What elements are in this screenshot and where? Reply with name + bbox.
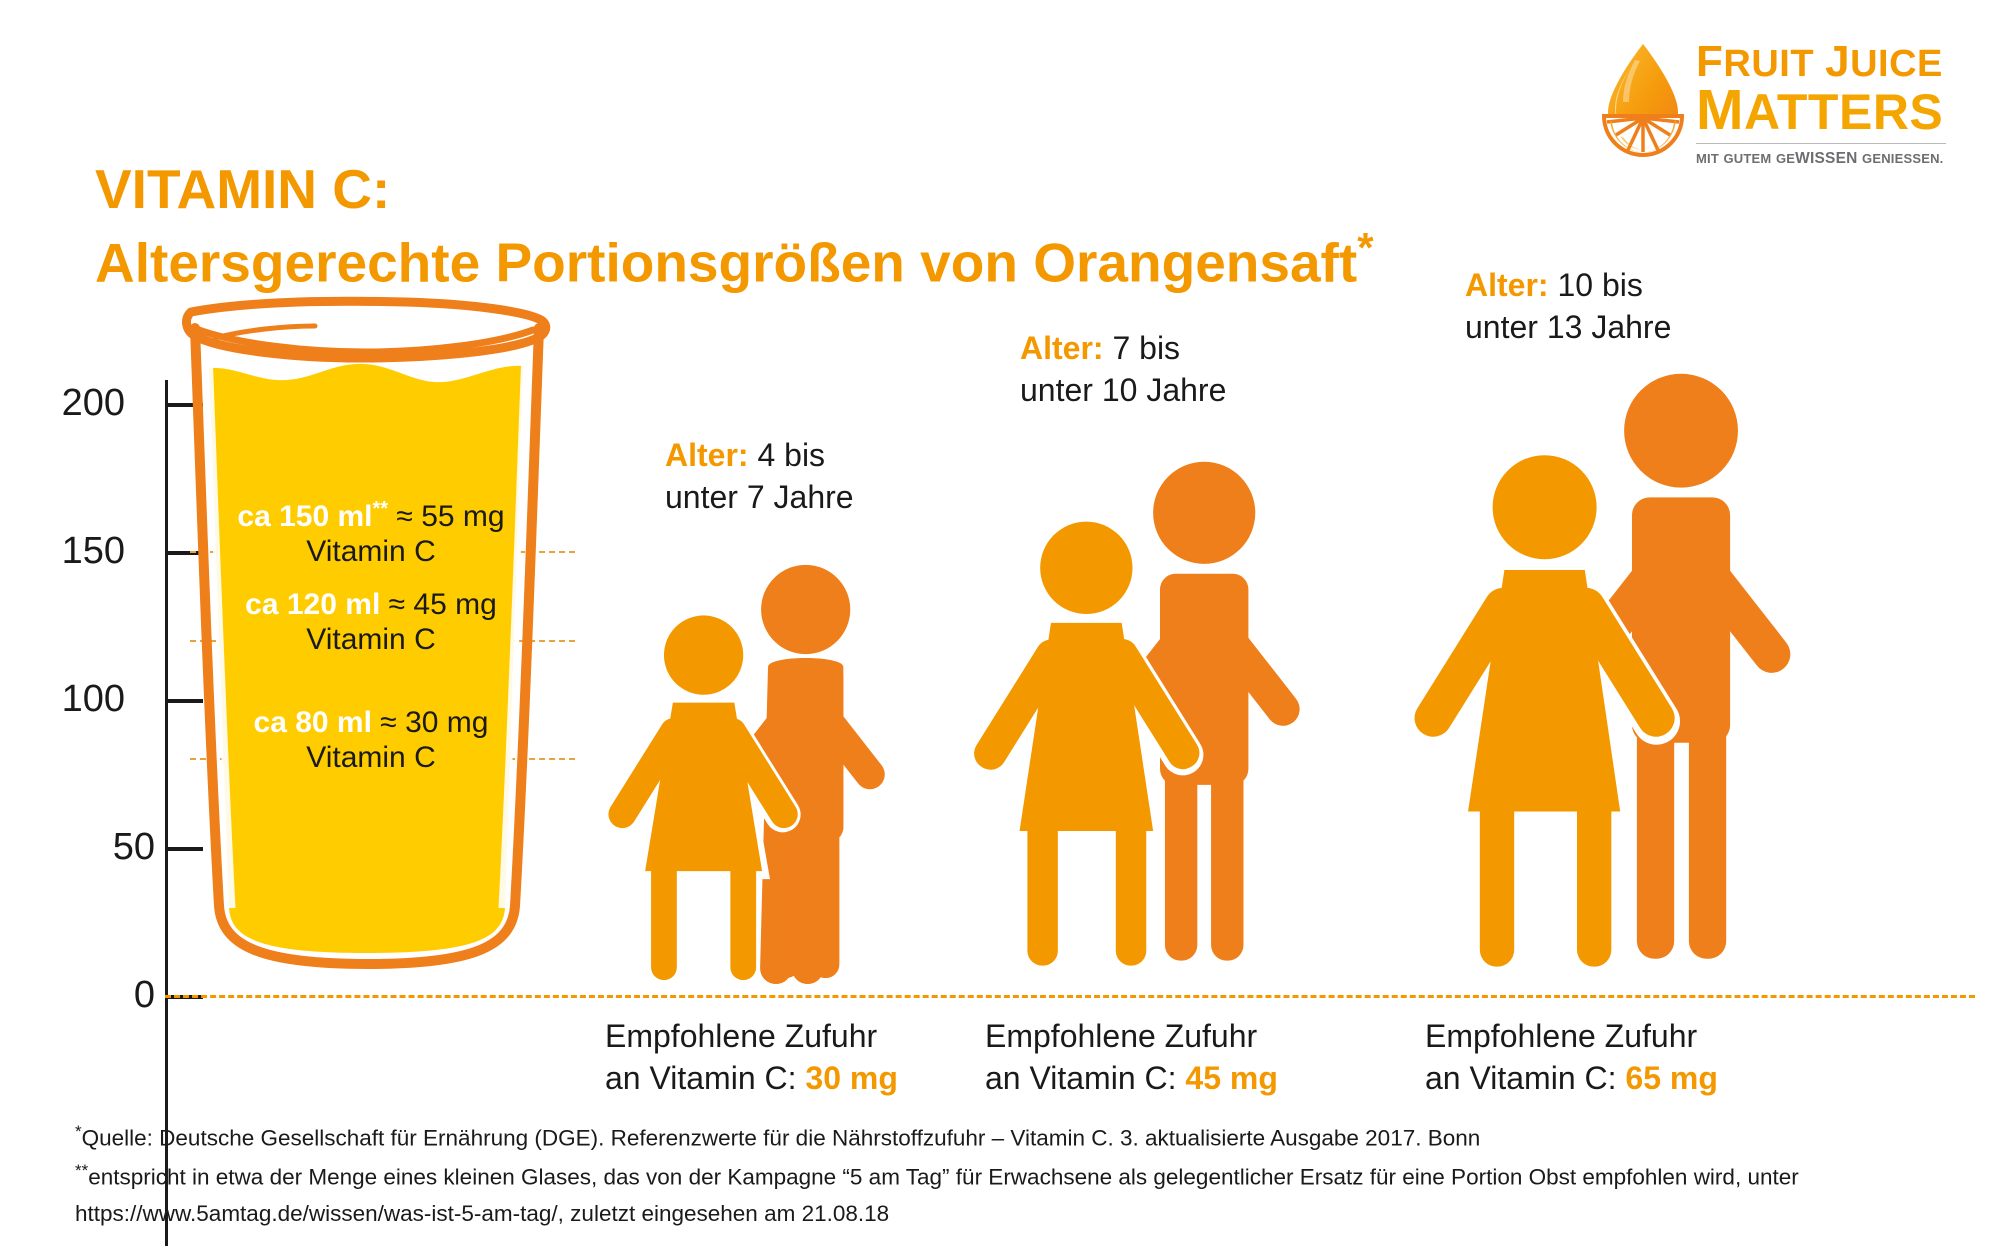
age-range2-10-13: unter 13 Jahre (1465, 309, 1671, 345)
footnote-1-marker: * (75, 1122, 82, 1141)
y-tick-label-100: 100 (15, 680, 125, 718)
logo-atters: ATTERS (1744, 84, 1943, 140)
caption-10-13-value: 65 mg (1625, 1060, 1717, 1096)
glass-label-120ml-nutrient: Vitamin C (306, 623, 436, 656)
age-label-10-13: Alter: 10 bis unter 13 Jahre (1465, 265, 1671, 348)
footnote-2-text: entspricht in etwa der Menge eines klein… (88, 1164, 1799, 1189)
glass-label-150ml-approx: ≈ 55 mg (396, 500, 504, 533)
age-prefix-4-7: Alter: (665, 437, 749, 473)
chart-area: 0 50 100 150 200 (0, 330, 2005, 1060)
caption-7-10-value: 45 mg (1185, 1060, 1277, 1096)
age-range2-7-10: unter 10 Jahre (1020, 372, 1226, 408)
caption-10-13-line2: an Vitamin C: (1425, 1060, 1625, 1096)
y-tick-label-0: 0 (45, 976, 155, 1014)
age-prefix-7-10: Alter: (1020, 330, 1104, 366)
caption-4-7-value: 30 mg (805, 1060, 897, 1096)
caption-4-7: Empfohlene Zufuhr an Vitamin C: 30 mg (605, 1015, 898, 1099)
footnote-3: https://www.5amtag.de/wissen/was-ist-5-a… (75, 1196, 1975, 1232)
caption-4-7-line1: Empfohlene Zufuhr (605, 1018, 877, 1054)
age-range-10-13: 10 bis (1549, 267, 1643, 303)
y-axis-line (165, 380, 168, 1246)
title-line-2-text: Altersgerechte Portionsgrößen von Orange… (95, 232, 1357, 294)
caption-7-10-line1: Empfohlene Zufuhr (985, 1018, 1257, 1054)
age-label-7-10: Alter: 7 bis unter 10 Jahre (1020, 328, 1226, 411)
footnote-3-text: https://www.5amtag.de/wissen/was-ist-5-a… (75, 1201, 889, 1226)
glass-label-150ml-marker: ** (373, 498, 389, 520)
footnote-1-text: Quelle: Deutsche Gesellschaft für Ernähr… (82, 1126, 1481, 1151)
glass-label-150ml: ca 150 ml** ≈ 55 mg Vitamin C (196, 498, 546, 569)
page-title: VITAMIN C: Altersgerechte Portionsgrößen… (95, 160, 1595, 293)
orange-juice-drop-icon (1600, 40, 1686, 162)
glass-label-150ml-volume: ca 150 ml (237, 500, 372, 533)
tagline-ge: GE (1776, 151, 1795, 166)
age-range-4-7: 4 bis (749, 437, 825, 473)
logo-line-matters: MATTERS (1696, 84, 1946, 138)
y-tick-label-50: 50 (45, 828, 155, 866)
age-prefix-10-13: Alter: (1465, 267, 1549, 303)
pictogram-pair-4-7 (620, 552, 920, 1003)
caption-7-10-line2: an Vitamin C: (985, 1060, 1185, 1096)
logo-divider (1696, 143, 1946, 144)
title-line-1: VITAMIN C: (95, 160, 1595, 219)
tagline-mit: MIT (1696, 151, 1719, 166)
glass-label-120ml-approx: ≈ 45 mg (389, 588, 497, 621)
logo-m: M (1696, 78, 1744, 142)
tagline-wissen: WISSEN (1795, 150, 1857, 167)
pictogram-pair-10-13 (1430, 360, 1830, 1003)
glass-label-150ml-nutrient: Vitamin C (306, 535, 436, 568)
age-range-7-10: 7 bis (1104, 330, 1180, 366)
caption-10-13-line1: Empfohlene Zufuhr (1425, 1018, 1697, 1054)
tagline-gutem: GUTEM (1724, 151, 1772, 166)
age-range2-4-7: unter 7 Jahre (665, 479, 854, 515)
pictogram-pair-7-10 (990, 448, 1330, 1003)
logo-j: J (1825, 37, 1850, 86)
glass-label-120ml-volume: ca 120 ml (245, 588, 380, 621)
glass-label-80ml-volume: ca 80 ml (254, 706, 372, 739)
fruit-juice-matters-logo: FRUIT JUICE MATTERS MIT GUTEM GEWISSEN G… (1600, 38, 1950, 183)
title-footnote-marker: * (1357, 224, 1373, 271)
infographic-canvas: FRUIT JUICE MATTERS MIT GUTEM GEWISSEN G… (0, 0, 2005, 1246)
title-line-2: Altersgerechte Portionsgrößen von Orange… (95, 225, 1595, 293)
glass-label-80ml: ca 80 ml ≈ 30 mg Vitamin C (196, 706, 546, 775)
caption-7-10: Empfohlene Zufuhr an Vitamin C: 45 mg (985, 1015, 1278, 1099)
glass-label-80ml-approx: ≈ 30 mg (380, 706, 488, 739)
age-label-4-7: Alter: 4 bis unter 7 Jahre (665, 435, 854, 518)
footnote-2-marker: ** (75, 1161, 88, 1180)
logo-wordmark: FRUIT JUICE MATTERS MIT GUTEM GEWISSEN G… (1696, 42, 1946, 168)
glass-label-120ml: ca 120 ml ≈ 45 mg Vitamin C (196, 588, 546, 657)
logo-uice: UICE (1850, 43, 1943, 85)
tagline-geniessen: GENIESSEN. (1862, 151, 1943, 166)
caption-10-13: Empfohlene Zufuhr an Vitamin C: 65 mg (1425, 1015, 1718, 1099)
footnotes-block: *Quelle: Deutsche Gesellschaft für Ernäh… (75, 1118, 1975, 1232)
y-tick-label-200: 200 (15, 384, 125, 422)
footnote-2: **entspricht in etwa der Menge eines kle… (75, 1157, 1975, 1196)
glass-label-80ml-nutrient: Vitamin C (306, 741, 436, 774)
y-tick-label-150: 150 (15, 532, 125, 570)
caption-4-7-line2: an Vitamin C: (605, 1060, 805, 1096)
footnote-1: *Quelle: Deutsche Gesellschaft für Ernäh… (75, 1118, 1975, 1157)
logo-tagline: MIT GUTEM GEWISSEN GENIESSEN. (1696, 150, 1946, 168)
